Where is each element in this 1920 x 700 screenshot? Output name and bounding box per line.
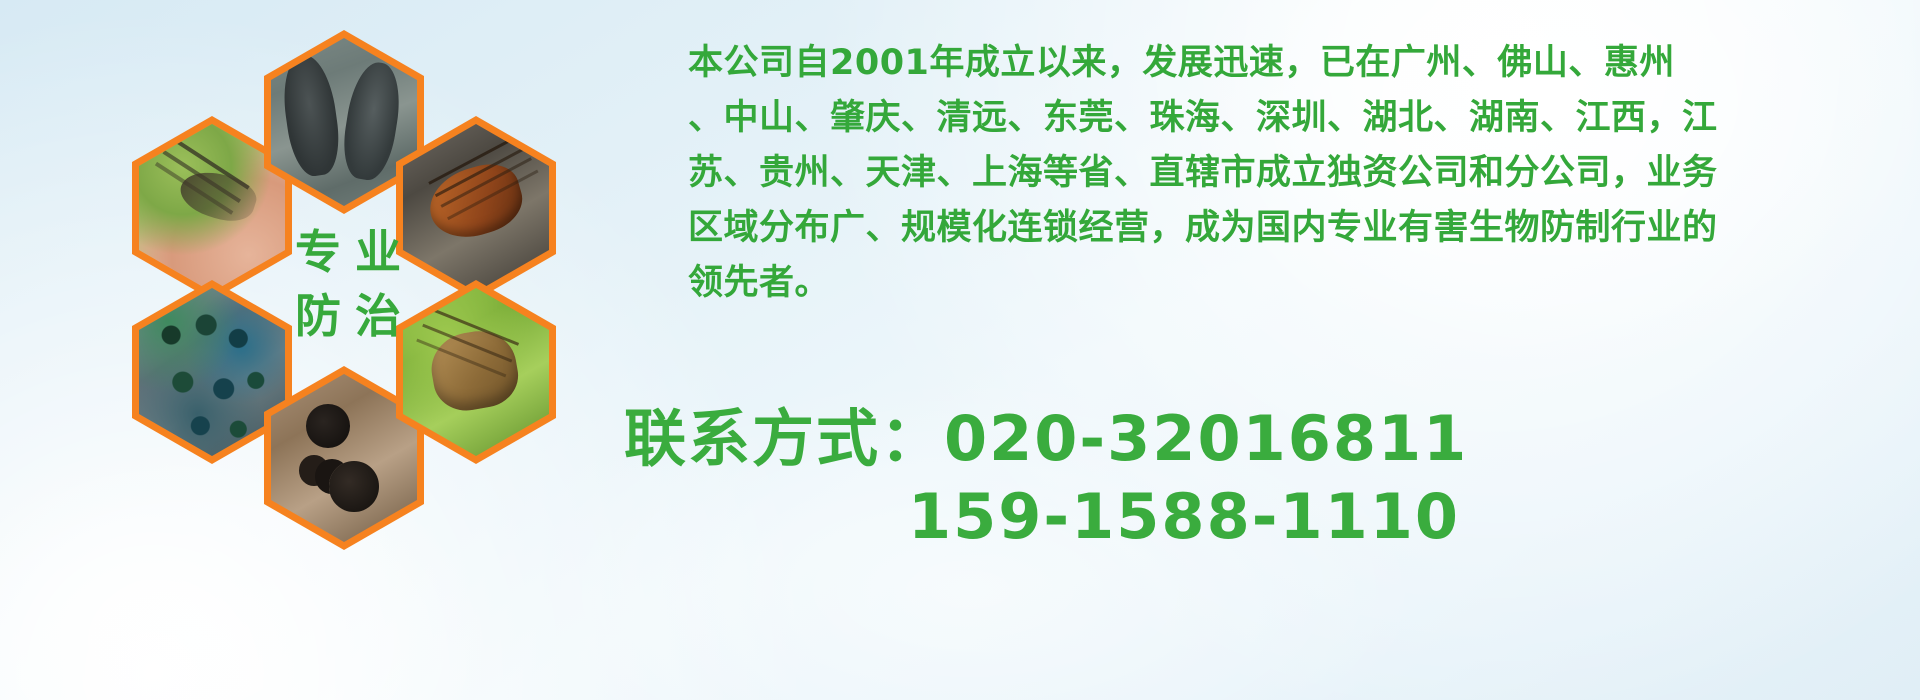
rats-photo <box>271 38 417 206</box>
description-line-3: 苏、贵州、天津、上海等省、直辖市成立独资公司和分公司，业务 <box>618 146 1878 201</box>
contact-primary-row[interactable]: 联系方式：020-32016811 <box>618 400 1878 478</box>
phone-secondary[interactable]: 159-1588-1110 <box>908 480 1460 553</box>
hexagon-photo-cluster: 专业 防治 <box>96 8 596 568</box>
logo-line-2: 防治 <box>281 293 415 339</box>
description-line-4: 区域分布广、规模化连锁经营，成为国内专业有害生物防制行业的 <box>618 201 1878 256</box>
description-line-2: 、中山、肇庆、清远、东莞、珠海、深圳、湖北、湖南、江西，江 <box>618 91 1878 146</box>
contact-label: 联系方式： <box>624 402 944 475</box>
description-paragraph: 本公司自2001年成立以来，发展迅速，已在广州、佛山、惠州 、中山、肇庆、清远、… <box>618 36 1878 311</box>
hex-center-label: 专业 防治 <box>264 188 432 380</box>
contact-block: 联系方式：020-32016811 159-1588-1110 <box>618 400 1878 556</box>
company-description: 本公司自2001年成立以来，发展迅速，已在广州、佛山、惠州 、中山、肇庆、清远、… <box>618 36 1878 311</box>
description-line-1: 本公司自2001年成立以来，发展迅速，已在广州、佛山、惠州 <box>618 36 1878 91</box>
promo-banner: 专业 防治 本公司自2001年成立以来，发展迅速，已在广州、佛山、惠州 、中山、… <box>0 0 1920 700</box>
logo-line-1: 专业 <box>281 229 415 275</box>
ants-photo <box>271 374 417 542</box>
phone-primary[interactable]: 020-32016811 <box>944 402 1468 475</box>
contact-secondary-row[interactable]: 159-1588-1110 <box>618 478 1878 556</box>
description-line-5: 领先者。 <box>618 256 1878 311</box>
